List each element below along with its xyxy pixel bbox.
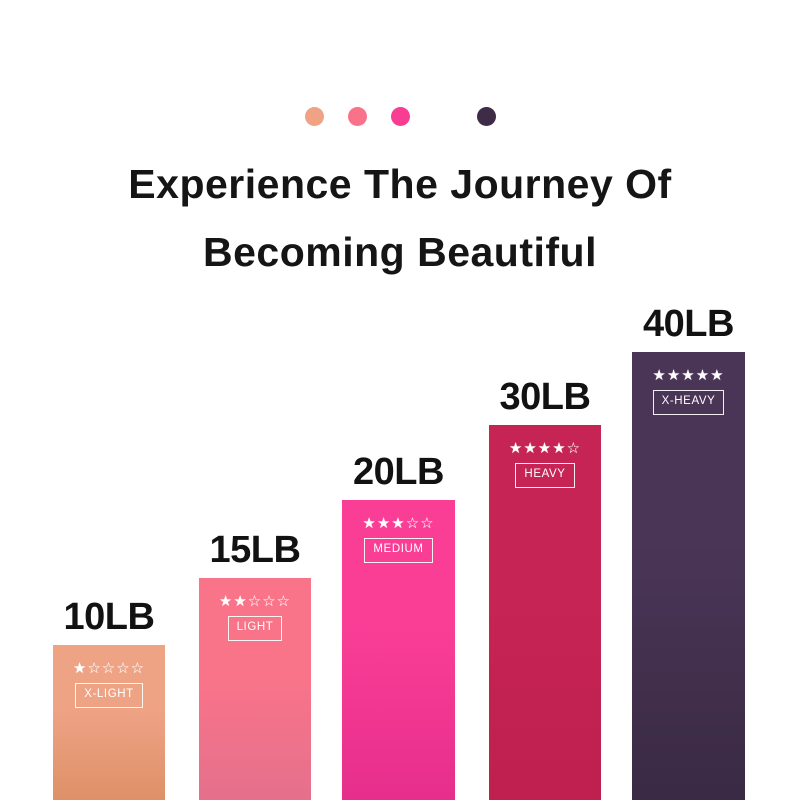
bar-column-15lb[interactable]: 15LB★★☆☆☆LIGHT (199, 578, 311, 800)
grade-badge-40lb: X-HEAVY (653, 390, 725, 415)
grade-badge-30lb: HEAVY (515, 463, 574, 488)
bar-weight-label-30lb: 30LB (500, 377, 591, 417)
bar-column-40lb[interactable]: 40LB★★★★★X-HEAVY (632, 352, 745, 800)
resistance-band-bar-chart: 10LB★☆☆☆☆X-LIGHT15LB★★☆☆☆LIGHT20LB★★★☆☆M… (0, 0, 800, 800)
bar-column-20lb[interactable]: 20LB★★★☆☆MEDIUM (342, 500, 455, 800)
bar-40lb[interactable]: ★★★★★X-HEAVY (632, 352, 745, 800)
star-rating-20lb: ★★★☆☆ (362, 516, 434, 531)
star-rating-15lb: ★★☆☆☆ (219, 594, 291, 609)
bar-weight-label-10lb: 10LB (64, 597, 155, 637)
grade-badge-15lb: LIGHT (228, 616, 283, 641)
star-rating-30lb: ★★★★☆ (509, 441, 581, 456)
bar-column-30lb[interactable]: 30LB★★★★☆HEAVY (489, 425, 601, 800)
bar-30lb[interactable]: ★★★★☆HEAVY (489, 425, 601, 800)
grade-badge-20lb: MEDIUM (364, 538, 432, 563)
bar-10lb[interactable]: ★☆☆☆☆X-LIGHT (53, 645, 165, 800)
star-rating-40lb: ★★★★★ (652, 368, 724, 383)
bar-weight-label-40lb: 40LB (643, 304, 734, 344)
bar-20lb[interactable]: ★★★☆☆MEDIUM (342, 500, 455, 800)
star-rating-10lb: ★☆☆☆☆ (73, 661, 145, 676)
bar-column-10lb[interactable]: 10LB★☆☆☆☆X-LIGHT (53, 645, 165, 800)
bar-weight-label-15lb: 15LB (210, 530, 301, 570)
promo-banner: Experience The Journey Of Becoming Beaut… (0, 0, 800, 800)
bar-weight-label-20lb: 20LB (353, 452, 444, 492)
grade-badge-10lb: X-LIGHT (75, 683, 143, 708)
bar-15lb[interactable]: ★★☆☆☆LIGHT (199, 578, 311, 800)
